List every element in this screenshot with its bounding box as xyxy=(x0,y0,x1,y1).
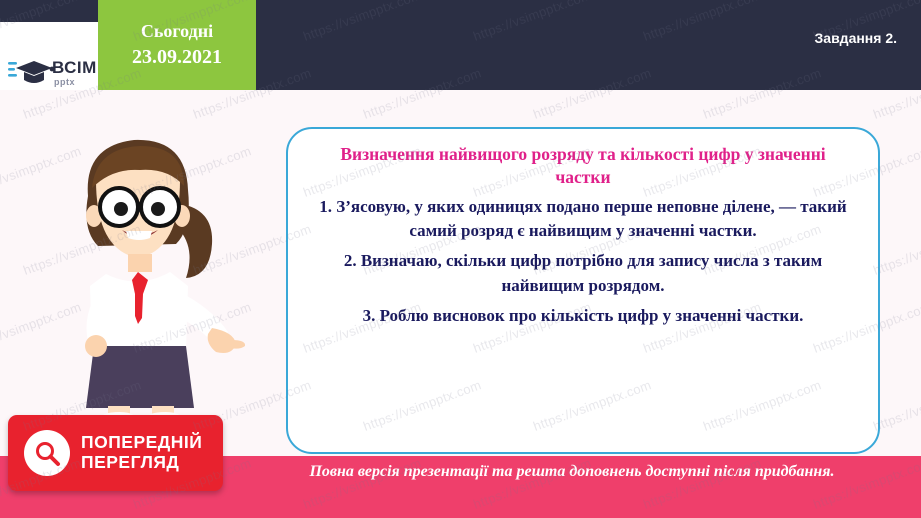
graduation-cap-icon xyxy=(8,56,100,100)
list-item: 2. Визначаю, скільки цифр потрібно для з… xyxy=(310,249,856,297)
purchase-notice: Повна версія презентації та решта доповн… xyxy=(236,461,908,483)
date-badge-value: 23.09.2021 xyxy=(132,46,222,69)
content-panel: Визначення найвищого розряду та кількост… xyxy=(286,127,880,454)
student-character-illustration xyxy=(36,118,246,438)
list-item: 3. Роблю висновок про кількість цифр у з… xyxy=(310,304,856,328)
page-title: Завдання 2. xyxy=(815,30,897,46)
preview-button[interactable]: ПОПЕРЕДНІЙ ПЕРЕГЛЯД xyxy=(8,415,223,491)
preview-button-line1: ПОПЕРЕДНІЙ xyxy=(81,433,202,453)
slide-root: Завдання 2. ВСІМ pptx Сьогодні 23.09.202… xyxy=(0,0,921,518)
preview-button-line2: ПЕРЕГЛЯД xyxy=(81,453,202,473)
date-badge: Сьогодні 23.09.2021 xyxy=(98,0,256,90)
list-item: 1. З’ясовую, у яких одиницях подано перш… xyxy=(310,195,856,243)
content-title: Визначення найвищого розряду та кількост… xyxy=(318,143,848,189)
magnifier-icon xyxy=(24,430,70,476)
content-list: 1. З’ясовую, у яких одиницях подано перш… xyxy=(310,195,856,328)
logo-panel: ВСІМ pptx xyxy=(0,22,98,90)
date-badge-label: Сьогодні xyxy=(141,21,213,42)
